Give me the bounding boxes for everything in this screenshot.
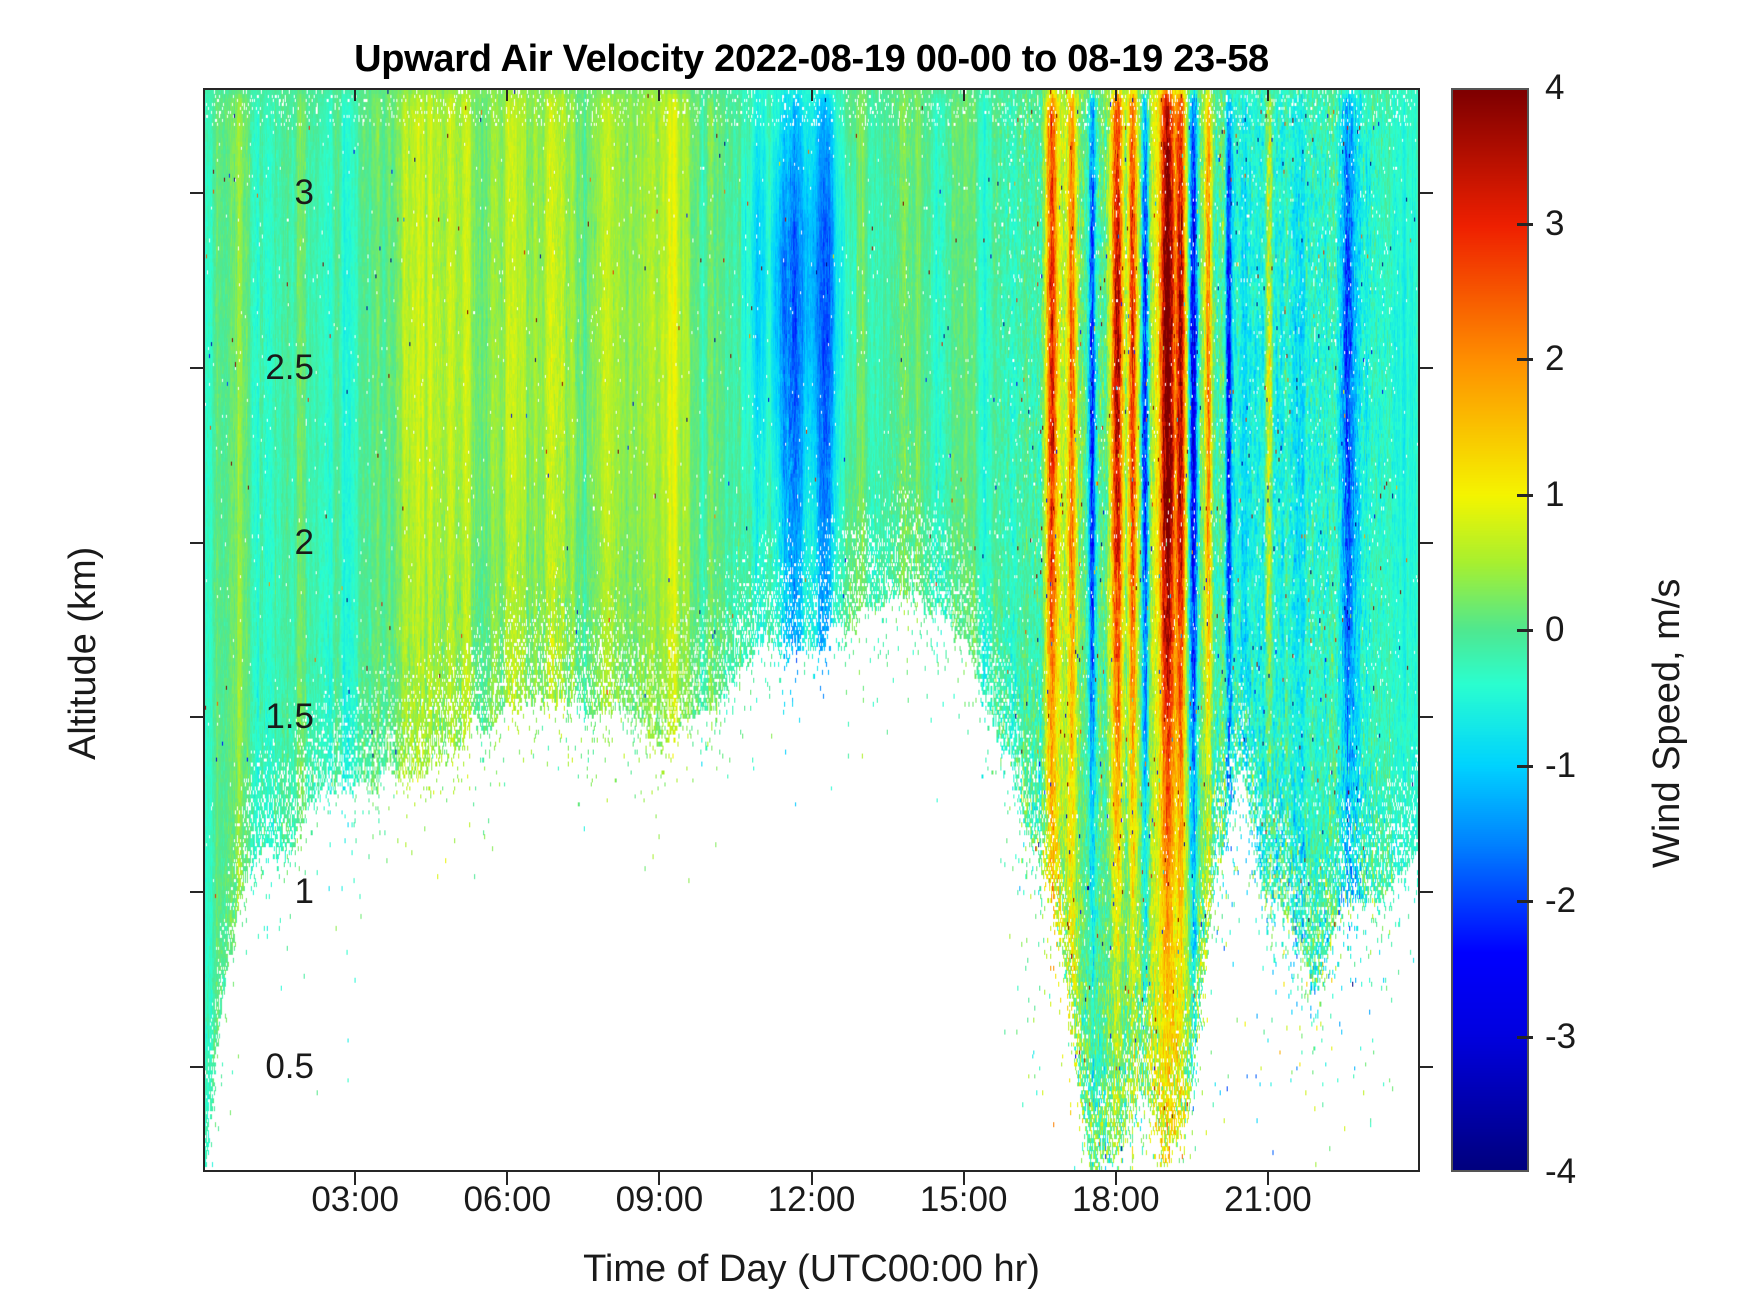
colorbar-tick-mark: [1517, 494, 1533, 497]
colorbar-tick-mark: [1517, 223, 1533, 226]
y-tick-label: 3: [194, 175, 314, 210]
x-tick-label: 21:00: [1168, 1182, 1368, 1217]
x-tick-mark-top: [811, 88, 813, 101]
colorbar-tick-mark: [1517, 765, 1533, 768]
y-tick-label: 0.5: [194, 1049, 314, 1084]
y-tick-mark-right: [1420, 192, 1433, 194]
x-tick-mark-top: [1115, 88, 1117, 101]
x-tick-mark-top: [658, 88, 660, 101]
colorbar-tick-label: -2: [1545, 883, 1576, 918]
x-tick-mark-top: [963, 88, 965, 101]
page-title: Upward Air Velocity 2022-08-19 00-00 to …: [203, 38, 1420, 81]
colorbar-tick-label: 3: [1545, 206, 1564, 241]
x-tick-mark-top: [1267, 88, 1269, 101]
colorbar-tick-mark: [1517, 900, 1533, 903]
x-axis-label: Time of Day (UTC00:00 hr): [203, 1248, 1420, 1291]
colorbar-tick-label: 2: [1545, 341, 1564, 376]
colorbar-tick-label: -3: [1545, 1019, 1576, 1054]
colorbar-tick-label: -4: [1545, 1154, 1576, 1189]
colorbar-label: Wind Speed, m/s: [1646, 579, 1689, 868]
y-tick-label: 2: [194, 525, 314, 560]
x-tick-mark-top: [354, 88, 356, 101]
y-tick-mark-right: [1420, 716, 1433, 718]
y-tick-mark-right: [1420, 1066, 1433, 1068]
colorbar: Wind Speed, m/s 43210-1-2-3-4: [1451, 88, 1750, 1172]
colorbar-tick-mark: [1517, 358, 1533, 361]
colorbar-tick-label: 4: [1545, 70, 1564, 105]
heatmap-canvas: [205, 90, 1418, 1170]
y-tick-mark-right: [1420, 542, 1433, 544]
colorbar-tick-mark: [1517, 629, 1533, 632]
colorbar-gradient: [1453, 90, 1527, 1170]
y-tick-label: 2.5: [194, 350, 314, 385]
y-axis-label: Altitude (km): [62, 547, 105, 760]
y-tick-mark-right: [1420, 891, 1433, 893]
y-tick-mark-right: [1420, 367, 1433, 369]
y-tick-label: 1: [194, 874, 314, 909]
x-tick-mark-top: [506, 88, 508, 101]
colorbar-tick-label: 0: [1545, 612, 1564, 647]
colorbar-tick-mark: [1517, 1036, 1533, 1039]
y-tick-label: 1.5: [194, 699, 314, 734]
colorbar-tick-label: 1: [1545, 477, 1564, 512]
plot-area: [203, 88, 1420, 1172]
figure-canvas: Upward Air Velocity 2022-08-19 00-00 to …: [0, 0, 1750, 1313]
colorbar-tick-label: -1: [1545, 748, 1576, 783]
